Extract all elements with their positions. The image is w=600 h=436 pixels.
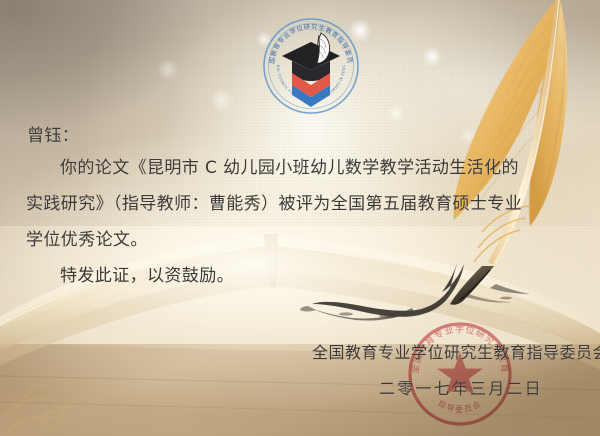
- body-line-1: 你的论文《昆明市 C 幼儿园小班幼儿数学教学活动生活化的: [60, 160, 519, 177]
- certificate-text-block: 曾钰： 你的论文《昆明市 C 幼儿园小班幼儿数学教学活动生活化的 实践研究》（指…: [0, 0, 600, 436]
- body-line-4: 特发此证，以资鼓励。: [60, 268, 234, 285]
- salutation: 曾钰：: [27, 128, 79, 145]
- body-line-2: 实践研究》（指导教师：曹能秀）被评为全国第五届教育硕士专业: [26, 196, 522, 213]
- signing-organization: 全国教育专业学位研究生教育指导委员会: [312, 345, 600, 361]
- certificate-canvas: 全国教育专业学位研究生教育指导委员会 NATIONAL COUNCIL FOR …: [0, 0, 600, 436]
- signing-date: 二零一七年三月二日: [379, 381, 543, 397]
- body-line-3: 学位优秀论文。: [26, 232, 148, 249]
